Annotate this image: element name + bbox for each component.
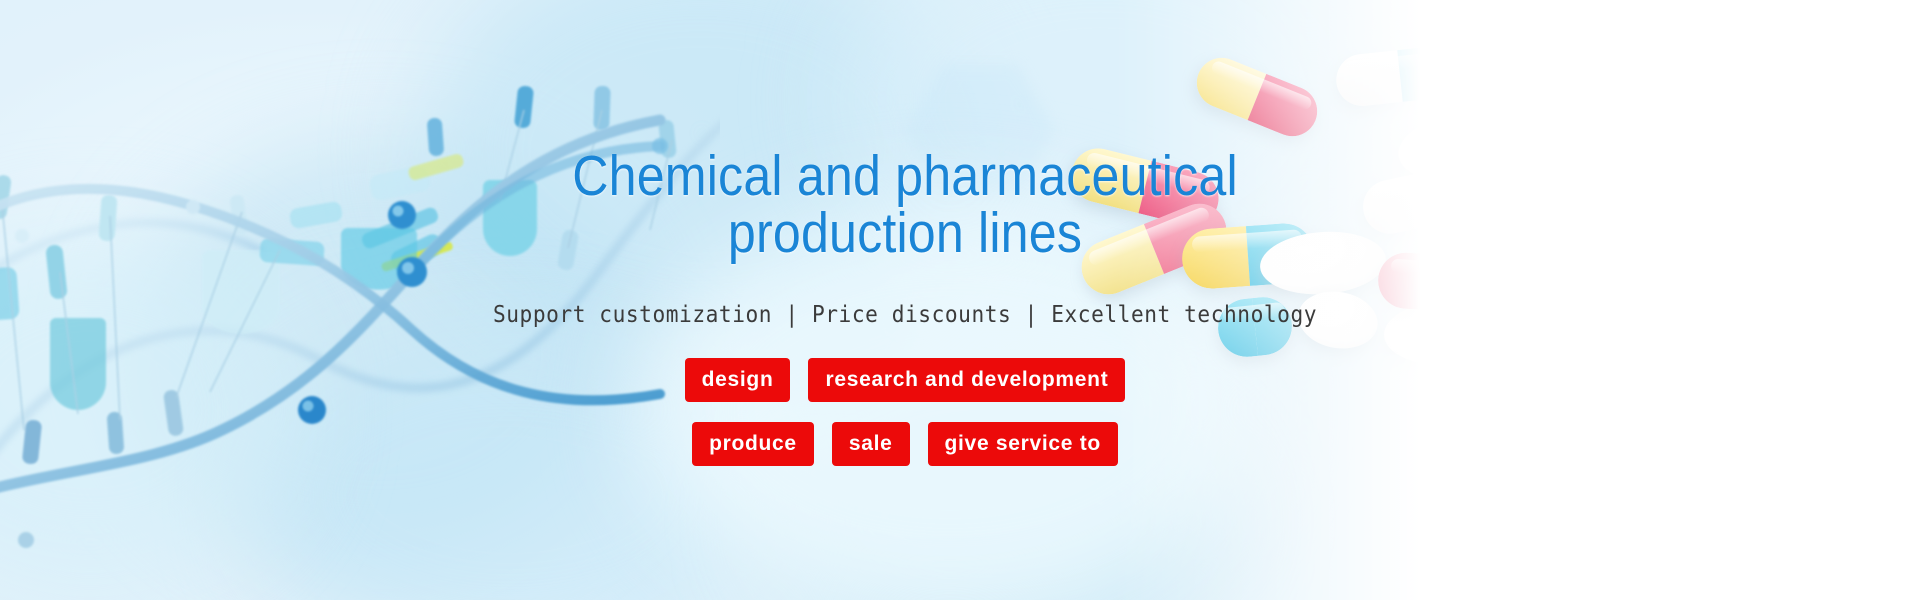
badge-row: design research and development [685,358,1126,402]
badge-sale[interactable]: sale [832,422,910,466]
badge-give-service-to[interactable]: give service to [928,422,1118,466]
service-badge-list: design research and development produce … [0,358,1810,466]
page-title: Chemical and pharmaceutical production l… [109,148,1702,262]
badge-design[interactable]: design [685,358,791,402]
badge-produce[interactable]: produce [692,422,814,466]
banner-subtitle: Support customization | Price discounts … [72,302,1737,328]
badge-research-and-development[interactable]: research and development [808,358,1125,402]
badge-row: produce sale give service to [692,422,1118,466]
banner-content: Chemical and pharmaceutical production l… [0,0,1810,600]
promotional-banner: Chemical and pharmaceutical production l… [0,0,1920,600]
